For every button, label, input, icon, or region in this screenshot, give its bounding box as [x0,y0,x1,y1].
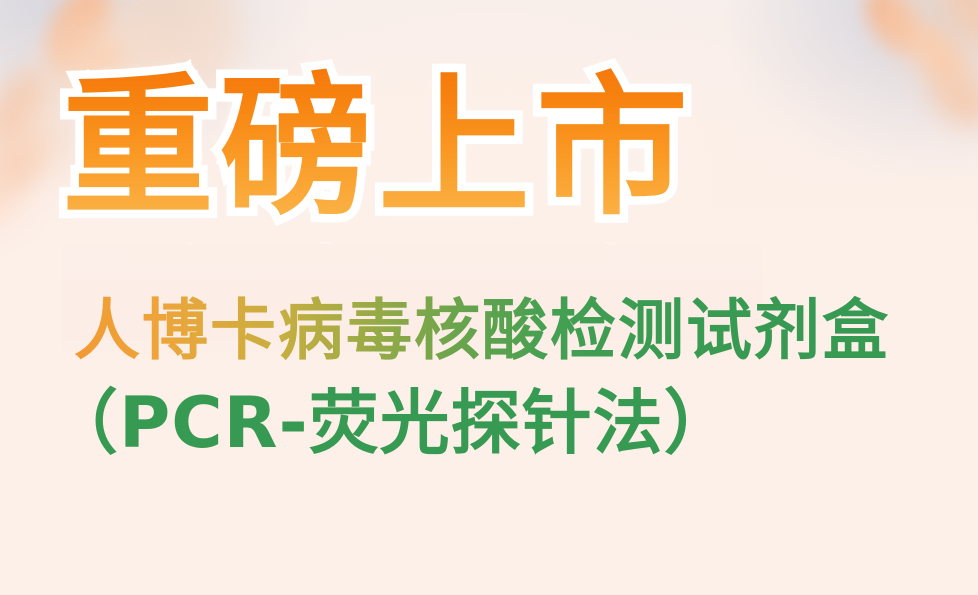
subtitle-line-2: （PCR-荧光探针法） [48,383,735,463]
subtitle-line-1: 人博卡病毒核酸检测试剂盒 [74,294,890,368]
headline: 重磅上市 重磅上市 [62,68,762,318]
headline-fill: 重磅上市 [62,59,694,236]
promo-poster: 重磅上市 重磅上市 重磅上市 重磅上市 人博卡病毒核酸检测试剂盒 （PCR-荧光… [0,0,978,595]
